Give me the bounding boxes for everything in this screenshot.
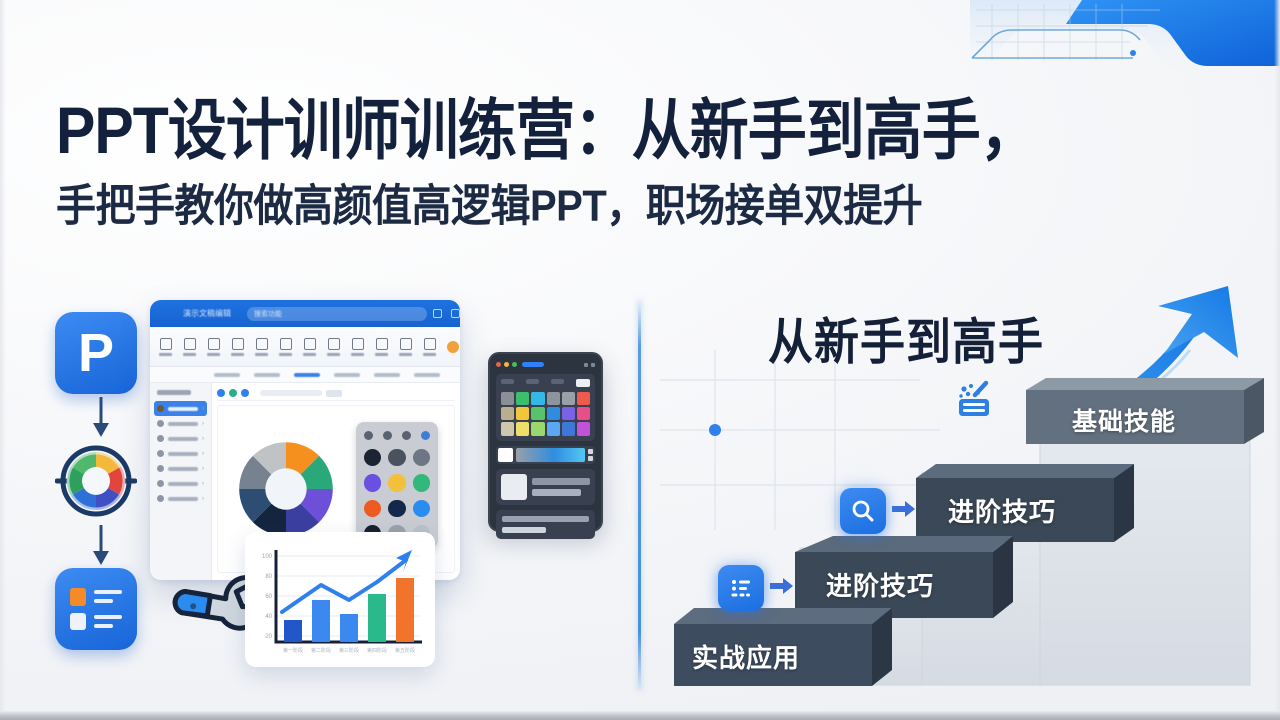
ribbon-table-icon[interactable] (327, 338, 340, 356)
arrow-right-icon-2 (770, 577, 794, 595)
step-block-1 (674, 608, 892, 686)
swatch[interactable] (388, 500, 405, 517)
staircase-blocks (640, 280, 1280, 720)
ribbon-cut-icon[interactable] (183, 338, 196, 356)
device-maximize-icon[interactable] (512, 362, 517, 367)
canvas-toolbar[interactable] (217, 388, 455, 401)
master-icon (157, 435, 164, 442)
device-gradient-row[interactable] (496, 446, 595, 464)
device-swatch[interactable] (562, 422, 575, 435)
device-swatch[interactable] (562, 392, 575, 405)
device-swatch[interactable] (577, 407, 590, 420)
app-tab-bar[interactable] (150, 367, 460, 383)
device-active-tab[interactable] (522, 362, 544, 367)
swatch[interactable] (413, 474, 430, 491)
slides-icon (157, 405, 164, 412)
layout-lines-top (94, 588, 122, 606)
device-tab-row[interactable] (501, 379, 590, 387)
device-swatch[interactable] (562, 407, 575, 420)
left-illustration-panel: P (0, 280, 636, 700)
svg-text:60: 60 (265, 594, 272, 600)
layout-swatch-orange (70, 588, 86, 606)
ribbon-image-icon[interactable] (303, 338, 316, 356)
gradient-preset-icon[interactable] (498, 448, 513, 462)
device-swatch[interactable] (577, 392, 590, 405)
powerpoint-icon[interactable]: P (55, 312, 137, 394)
flow-arrow-down-icon-2 (55, 522, 147, 568)
device-swatch[interactable] (516, 422, 529, 435)
share-icon[interactable] (433, 309, 442, 318)
swatch[interactable] (364, 474, 381, 491)
device-swatch[interactable] (516, 407, 529, 420)
title-bar-icons (433, 309, 460, 318)
sidebar-item-charts[interactable]: › (154, 476, 207, 491)
device-tab-3[interactable] (551, 379, 564, 384)
device-swatch[interactable] (577, 422, 590, 435)
template-icon (157, 420, 164, 427)
sparkle-card-icon[interactable] (952, 380, 998, 426)
device-swatch-grid[interactable] (501, 392, 590, 436)
sidebar-item-transition[interactable]: › (154, 461, 207, 476)
canvas-chip[interactable] (326, 390, 342, 397)
corner-decoration (970, 0, 1280, 96)
chart-icon (157, 480, 164, 487)
sidebar-item-notes[interactable]: › (154, 491, 207, 506)
device-swatch[interactable] (531, 407, 544, 420)
swatch[interactable] (388, 449, 405, 466)
chevron-right-icon: › (202, 466, 204, 472)
poster-canvas: PPT设计训师训练营：从新手到高手， 手把手教你做高颜值高逻辑PPT，职场接单双… (0, 0, 1280, 720)
ribbon-shape-icon[interactable] (255, 338, 268, 356)
chevron-right-icon: › (202, 496, 204, 502)
arrow-right-icon-3 (892, 500, 916, 518)
canvas-tool-2-icon[interactable] (229, 389, 237, 397)
device-swatch[interactable] (547, 407, 560, 420)
sidebar-item-slides[interactable]: › (154, 401, 207, 416)
sidebar-item-templates[interactable]: › (154, 416, 207, 431)
step-block-3 (916, 464, 1134, 542)
app-window-title: 演示文稿编辑 (183, 308, 231, 319)
right-illustration-panel: 从新手到高手 (640, 280, 1280, 720)
tab-start[interactable] (214, 373, 240, 377)
edge-right (1274, 0, 1280, 720)
device-close-icon[interactable] (496, 362, 501, 367)
swatch[interactable] (413, 449, 430, 466)
swatch[interactable] (413, 500, 430, 517)
device-swatch[interactable] (501, 407, 514, 420)
canvas-tool-1-icon[interactable] (217, 389, 225, 397)
step-block-2 (795, 536, 1013, 618)
swatch[interactable] (388, 474, 405, 491)
tab-insert[interactable] (254, 373, 280, 377)
ribbon-redo-icon[interactable] (399, 338, 412, 356)
device-preview-card[interactable] (496, 469, 595, 505)
svg-text:40: 40 (265, 614, 272, 620)
sidebar-item-animation[interactable]: › (154, 446, 207, 461)
device-settings-icon[interactable] (591, 363, 595, 367)
svg-text:第二阶段: 第二阶段 (311, 647, 331, 654)
tab-transition[interactable] (334, 373, 360, 377)
ribbon-format-icon[interactable] (207, 338, 220, 356)
ribbon-theme-color-icon[interactable] (447, 341, 459, 353)
transition-icon (157, 465, 164, 472)
chevron-right-icon: › (202, 421, 204, 427)
headline-block: PPT设计训师训练营：从新手到高手， 手把手教你做高颜值高逻辑PPT，职场接单双… (56, 96, 1236, 226)
chevron-right-icon: › (202, 451, 204, 457)
tab-design[interactable] (294, 373, 320, 377)
flow-arrow-down-icon (55, 394, 147, 440)
notes-icon (157, 495, 164, 502)
app-search-input[interactable]: 搜索功能 (247, 307, 427, 321)
bar-chart: 100 80 60 40 20 第一阶段 第二阶段 第三阶段 (254, 542, 426, 659)
svg-text:第一阶段: 第一阶段 (283, 647, 303, 654)
device-swatch[interactable] (547, 392, 560, 405)
donut-chart (232, 435, 340, 543)
app-search-placeholder: 搜索功能 (254, 309, 282, 319)
svg-text:第五阶段: 第五阶段 (395, 647, 415, 654)
device-swatch-section[interactable] (496, 374, 595, 441)
list-icon[interactable] (718, 565, 764, 611)
app-ribbon-toolbar[interactable] (150, 327, 460, 367)
device-titlebar-actions (584, 363, 595, 367)
step-block-4 (1026, 378, 1264, 444)
svg-text:100: 100 (262, 554, 273, 560)
device-menu-icon[interactable] (584, 363, 588, 367)
device-swatch[interactable] (501, 422, 514, 435)
device-tab-2[interactable] (526, 379, 539, 384)
gradient-actions (588, 449, 593, 461)
svg-text:第四阶段: 第四阶段 (367, 647, 387, 654)
page-title: PPT设计训师训练营：从新手到高手， (56, 96, 1236, 167)
svg-text:20: 20 (265, 634, 272, 640)
ribbon-chart-icon[interactable] (351, 338, 364, 356)
svg-text:第三阶段: 第三阶段 (339, 647, 359, 654)
swatch[interactable] (364, 449, 381, 466)
ribbon-text-icon[interactable] (231, 338, 244, 356)
ribbon-undo-icon[interactable] (375, 338, 388, 356)
tab-view[interactable] (414, 373, 440, 377)
bar-chart-card: 100 80 60 40 20 第一阶段 第二阶段 第三阶段 (245, 532, 435, 667)
workflow-icon-stack: P (55, 312, 147, 650)
color-wheel-icon[interactable] (55, 440, 137, 522)
list-line (502, 516, 589, 522)
device-tab-1[interactable] (501, 379, 514, 384)
sidebar-item-master[interactable]: › (154, 431, 207, 446)
edge-left (0, 0, 6, 720)
svg-text:80: 80 (265, 574, 272, 580)
powerpoint-letter: P (78, 326, 114, 380)
layout-lines-bottom (94, 613, 122, 631)
palette-device-panel[interactable] (488, 352, 603, 532)
list-line (502, 527, 546, 533)
device-swatch[interactable] (531, 392, 544, 405)
ribbon-right-group (375, 338, 460, 356)
app-title-bar: 演示文稿编辑 搜索功能 (150, 300, 460, 327)
chevron-right-icon: › (202, 481, 204, 487)
canvas-name-field[interactable] (260, 390, 322, 396)
camera-icon[interactable] (576, 379, 590, 387)
layout-icon[interactable] (55, 568, 137, 650)
color-swatch-panel[interactable] (356, 422, 438, 548)
page-subtitle: 手把手教你做高颜值高逻辑PPT，职场接单双提升 (56, 182, 1236, 230)
chevron-right-icon: › (202, 436, 204, 442)
gradient-add-icon[interactable] (588, 449, 593, 454)
swatch-panel-header (364, 431, 430, 440)
search-icon[interactable] (840, 488, 886, 534)
layout-swatch-white (70, 613, 86, 631)
swatch[interactable] (364, 500, 381, 517)
gradient-remove-icon[interactable] (588, 456, 593, 461)
ribbon-paste-icon[interactable] (159, 338, 172, 356)
ribbon-rotate-icon[interactable] (279, 338, 292, 356)
device-minimize-icon[interactable] (504, 362, 509, 367)
preview-thumbnail (501, 474, 527, 500)
device-swatch[interactable] (516, 392, 529, 405)
edge-bottom (0, 711, 1280, 720)
device-swatch[interactable] (501, 392, 514, 405)
sidebar-header (157, 390, 191, 395)
device-swatch[interactable] (531, 422, 544, 435)
comment-icon[interactable] (451, 309, 460, 318)
chevron-right-icon: › (202, 406, 204, 412)
ribbon-layout-icon[interactable] (423, 338, 436, 356)
gradient-bar[interactable] (516, 448, 585, 462)
device-list-card[interactable] (496, 510, 595, 539)
tab-animation[interactable] (374, 373, 400, 377)
canvas-tool-3-icon[interactable] (241, 389, 249, 397)
device-title-bar (496, 360, 595, 369)
animation-icon (157, 450, 164, 457)
preview-lines (532, 474, 590, 500)
device-swatch[interactable] (547, 422, 560, 435)
staircase-diagram: 实战应用 进阶技巧 进阶技巧 基础技能 (640, 280, 1280, 720)
